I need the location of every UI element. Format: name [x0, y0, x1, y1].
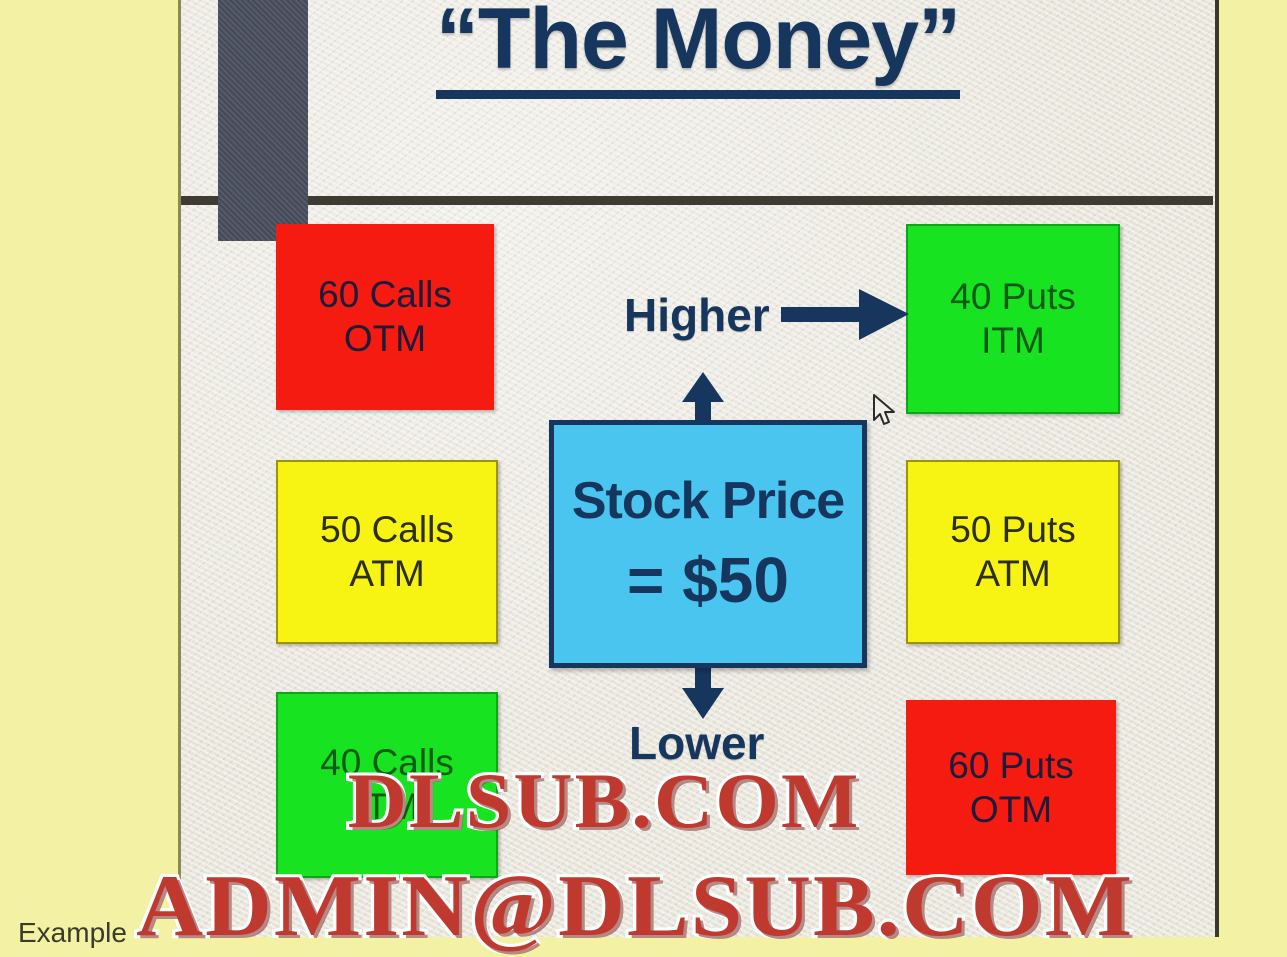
box-calls-otm[interactable]: 60 Calls OTM — [276, 224, 494, 410]
stock-price-value: = $50 — [627, 543, 789, 617]
box-puts-otm[interactable]: 60 Puts OTM — [906, 700, 1116, 875]
page-title: “The Money” — [436, 0, 960, 99]
stock-price-label: Stock Price — [572, 471, 844, 531]
box-calls-atm[interactable]: 50 Calls ATM — [276, 460, 498, 644]
title-divider-rule — [181, 196, 1213, 205]
box-puts-otm-line2: OTM — [970, 788, 1052, 832]
box-puts-atm-line2: ATM — [975, 552, 1050, 596]
mouse-cursor-icon — [873, 394, 899, 430]
box-calls-atm-line1: 50 Calls — [320, 508, 454, 552]
box-calls-otm-line2: OTM — [344, 317, 426, 361]
arrow-right-icon — [781, 287, 911, 343]
watermark-email: ADMIN@DLSUB.COM — [136, 856, 1134, 957]
decorative-left-bar — [218, 0, 308, 241]
watermark-site: DLSUB.COM — [348, 756, 861, 846]
box-stock-price[interactable]: Stock Price = $50 — [549, 420, 867, 668]
box-puts-itm-line2: ITM — [981, 319, 1045, 363]
box-puts-otm-line1: 60 Puts — [948, 744, 1073, 788]
higher-label: Higher — [624, 288, 770, 342]
box-puts-itm-line1: 40 Puts — [950, 275, 1075, 319]
page-background: “The Money” 60 Calls OTM 50 Calls ATM 40… — [0, 0, 1287, 937]
box-puts-itm[interactable]: 40 Puts ITM — [906, 224, 1120, 414]
footer-partial-text: Example — [18, 917, 127, 949]
box-calls-atm-line2: ATM — [349, 552, 424, 596]
box-puts-atm[interactable]: 50 Puts ATM — [906, 460, 1120, 644]
box-puts-atm-line1: 50 Puts — [950, 508, 1075, 552]
box-calls-otm-line1: 60 Calls — [318, 273, 452, 317]
title-area: “The Money” — [181, 0, 1215, 144]
